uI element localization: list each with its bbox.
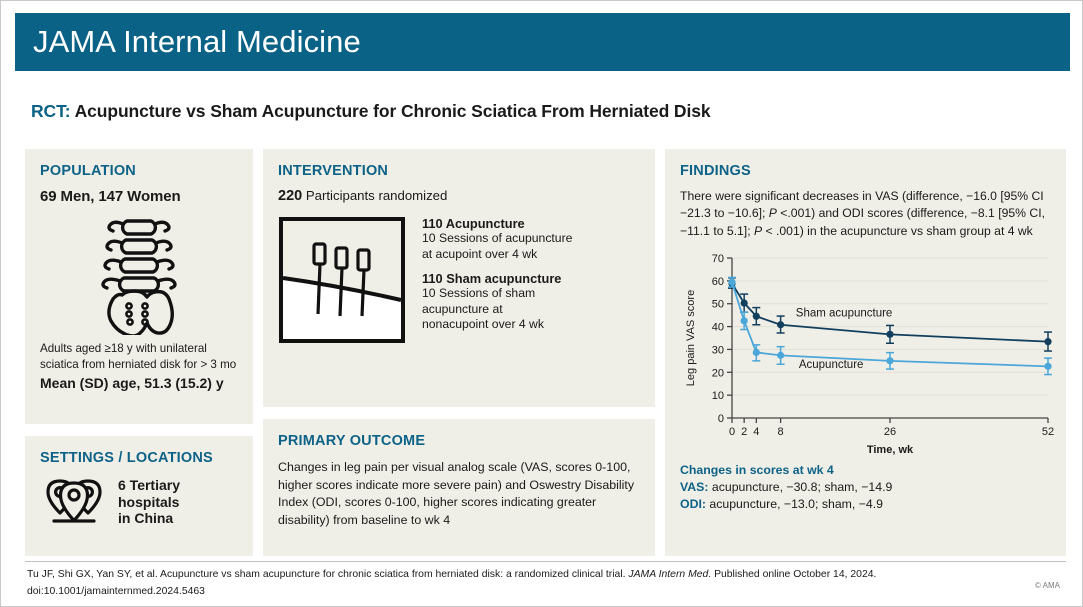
intervention-arm-sham: 110 Sham acupuncture 10 Sessions of sham… xyxy=(422,271,640,334)
arm-description: 10 Sessions of sham acupuncture at nonac… xyxy=(422,286,640,334)
vas-score-chart: 01020304050607002482652Time, wkLeg pain … xyxy=(680,246,1055,458)
svg-text:Leg pain VAS score: Leg pain VAS score xyxy=(685,290,697,386)
vas-value: acupuncture, −30.8; sham, −14.9 xyxy=(708,480,892,494)
population-note: Adults aged ≥18 y with unilateral sciati… xyxy=(25,341,253,393)
acupuncture-needles-icon xyxy=(278,216,406,344)
citation-pubdate: . Published online October 14, 2024. xyxy=(708,569,876,580)
svg-text:30: 30 xyxy=(712,344,724,356)
citation-text: Tu JF, Shi GX, Yan SY, et al. Acupunctur… xyxy=(27,569,628,580)
svg-text:40: 40 xyxy=(712,322,724,334)
findings-lede-3: < .001) in the acupuncture vs sham group… xyxy=(762,224,1033,238)
population-note-line1: Adults aged ≥18 y with unilateral xyxy=(40,342,207,355)
arm-count: 110 xyxy=(422,216,443,231)
citation-journal: JAMA Intern Med xyxy=(628,569,708,580)
lumbar-spine-sacrum-icon xyxy=(25,213,253,335)
settings-heading: SETTINGS / LOCATIONS xyxy=(40,450,238,466)
arm-desc-line2: acupuncture at xyxy=(422,302,503,316)
svg-text:60: 60 xyxy=(712,276,724,288)
svg-text:8: 8 xyxy=(778,426,784,438)
svg-text:10: 10 xyxy=(712,390,724,402)
population-note-line2: sciatica from herniated disk for > 3 mo xyxy=(40,358,236,371)
svg-text:52: 52 xyxy=(1042,426,1054,438)
vas-change-row: VAS: acupuncture, −30.8; sham, −14.9 xyxy=(680,479,1051,496)
odi-value: acupuncture, −13.0; sham, −4.9 xyxy=(706,497,883,511)
primary-outcome-text: Changes in leg pain per visual analog sc… xyxy=(278,459,640,529)
svg-text:50: 50 xyxy=(712,299,724,311)
svg-text:70: 70 xyxy=(712,253,724,265)
svg-text:Time, wk: Time, wk xyxy=(867,444,914,456)
participants-randomized: 220 Participants randomized xyxy=(278,188,640,204)
arm-name: Acupuncture xyxy=(446,216,525,231)
findings-heading: FINDINGS xyxy=(680,163,1051,179)
article-type-label: RCT: xyxy=(31,101,70,121)
svg-text:Acupuncture: Acupuncture xyxy=(799,359,864,371)
panel-findings: FINDINGS There were significant decrease… xyxy=(665,149,1066,556)
findings-score-changes: Changes in scores at wk 4 VAS: acupunctu… xyxy=(680,462,1051,513)
odi-label: ODI: xyxy=(680,497,706,511)
intervention-heading: INTERVENTION xyxy=(278,163,640,179)
arm-desc-line1: 10 Sessions of acupuncture xyxy=(422,231,572,245)
citation-doi: doi:10.1001/jamainternmed.2024.5463 xyxy=(27,586,205,597)
panel-settings-locations: SETTINGS / LOCATIONS xyxy=(25,436,253,556)
arm-desc-line3: nonacupoint over 4 wk xyxy=(422,317,544,331)
findings-summary-text: There were significant decreases in VAS … xyxy=(680,188,1051,240)
svg-text:0: 0 xyxy=(729,426,735,438)
article-title-text: Acupuncture vs Sham Acupuncture for Chro… xyxy=(75,101,711,121)
settings-line3: in China xyxy=(118,510,173,526)
arm-desc-line1: 10 Sessions of sham xyxy=(422,286,535,300)
map-pins-icon xyxy=(42,475,106,532)
arm-count: 110 xyxy=(422,271,443,286)
primary-outcome-heading: PRIMARY OUTCOME xyxy=(278,433,640,449)
settings-line1: 6 Tertiary xyxy=(118,477,180,493)
arm-title: 110 Sham acupuncture xyxy=(422,271,640,286)
panel-primary-outcome: PRIMARY OUTCOME Changes in leg pain per … xyxy=(263,419,655,556)
panel-population: POPULATION 69 Men, 147 Women xyxy=(25,149,253,424)
footer-citation: Tu JF, Shi GX, Yan SY, et al. Acupunctur… xyxy=(27,567,927,600)
visual-abstract-page: JAMA Internal Medicine RCT: Acupuncture … xyxy=(0,0,1083,607)
copyright-notice: © AMA xyxy=(1035,581,1060,590)
svg-text:2: 2 xyxy=(741,426,747,438)
journal-masthead: JAMA Internal Medicine xyxy=(15,13,1070,71)
arm-desc-line2: at acupoint over 4 wk xyxy=(422,247,537,261)
settings-text: 6 Tertiary hospitals in China xyxy=(118,475,180,527)
vas-label: VAS: xyxy=(680,480,708,494)
panel-intervention: INTERVENTION 220 Participants randomized xyxy=(263,149,655,407)
findings-p-2: P xyxy=(754,224,762,238)
intervention-arm-acupuncture: 110 Acupuncture 10 Sessions of acupunctu… xyxy=(422,216,640,263)
intervention-arms: 110 Acupuncture 10 Sessions of acupunctu… xyxy=(422,216,640,344)
svg-text:26: 26 xyxy=(884,426,896,438)
svg-text:Sham acupuncture: Sham acupuncture xyxy=(796,307,893,319)
participants-label: Participants randomized xyxy=(306,188,447,203)
arm-name: Sham acupuncture xyxy=(446,271,561,286)
odi-change-row: ODI: acupuncture, −13.0; sham, −4.9 xyxy=(680,496,1051,513)
settings-line2: hospitals xyxy=(118,494,179,510)
journal-title: JAMA Internal Medicine xyxy=(15,24,361,60)
page-title: RCT: Acupuncture vs Sham Acupuncture for… xyxy=(31,101,1051,122)
population-heading: POPULATION xyxy=(40,163,238,179)
arm-description: 10 Sessions of acupuncture at acupoint o… xyxy=(422,231,640,263)
svg-text:20: 20 xyxy=(712,367,724,379)
score-changes-title: Changes in scores at wk 4 xyxy=(680,462,1051,479)
svg-text:0: 0 xyxy=(718,413,724,425)
arm-title: 110 Acupuncture xyxy=(422,216,640,231)
participants-count: 220 xyxy=(278,188,302,204)
findings-p-1: P xyxy=(769,206,777,220)
population-stat: 69 Men, 147 Women xyxy=(40,188,238,205)
chart-canvas: 01020304050607002482652Time, wkLeg pain … xyxy=(680,246,1055,458)
footer-divider xyxy=(25,561,1066,562)
svg-text:4: 4 xyxy=(753,426,759,438)
population-mean-age: Mean (SD) age, 51.3 (15.2) y xyxy=(40,374,238,393)
